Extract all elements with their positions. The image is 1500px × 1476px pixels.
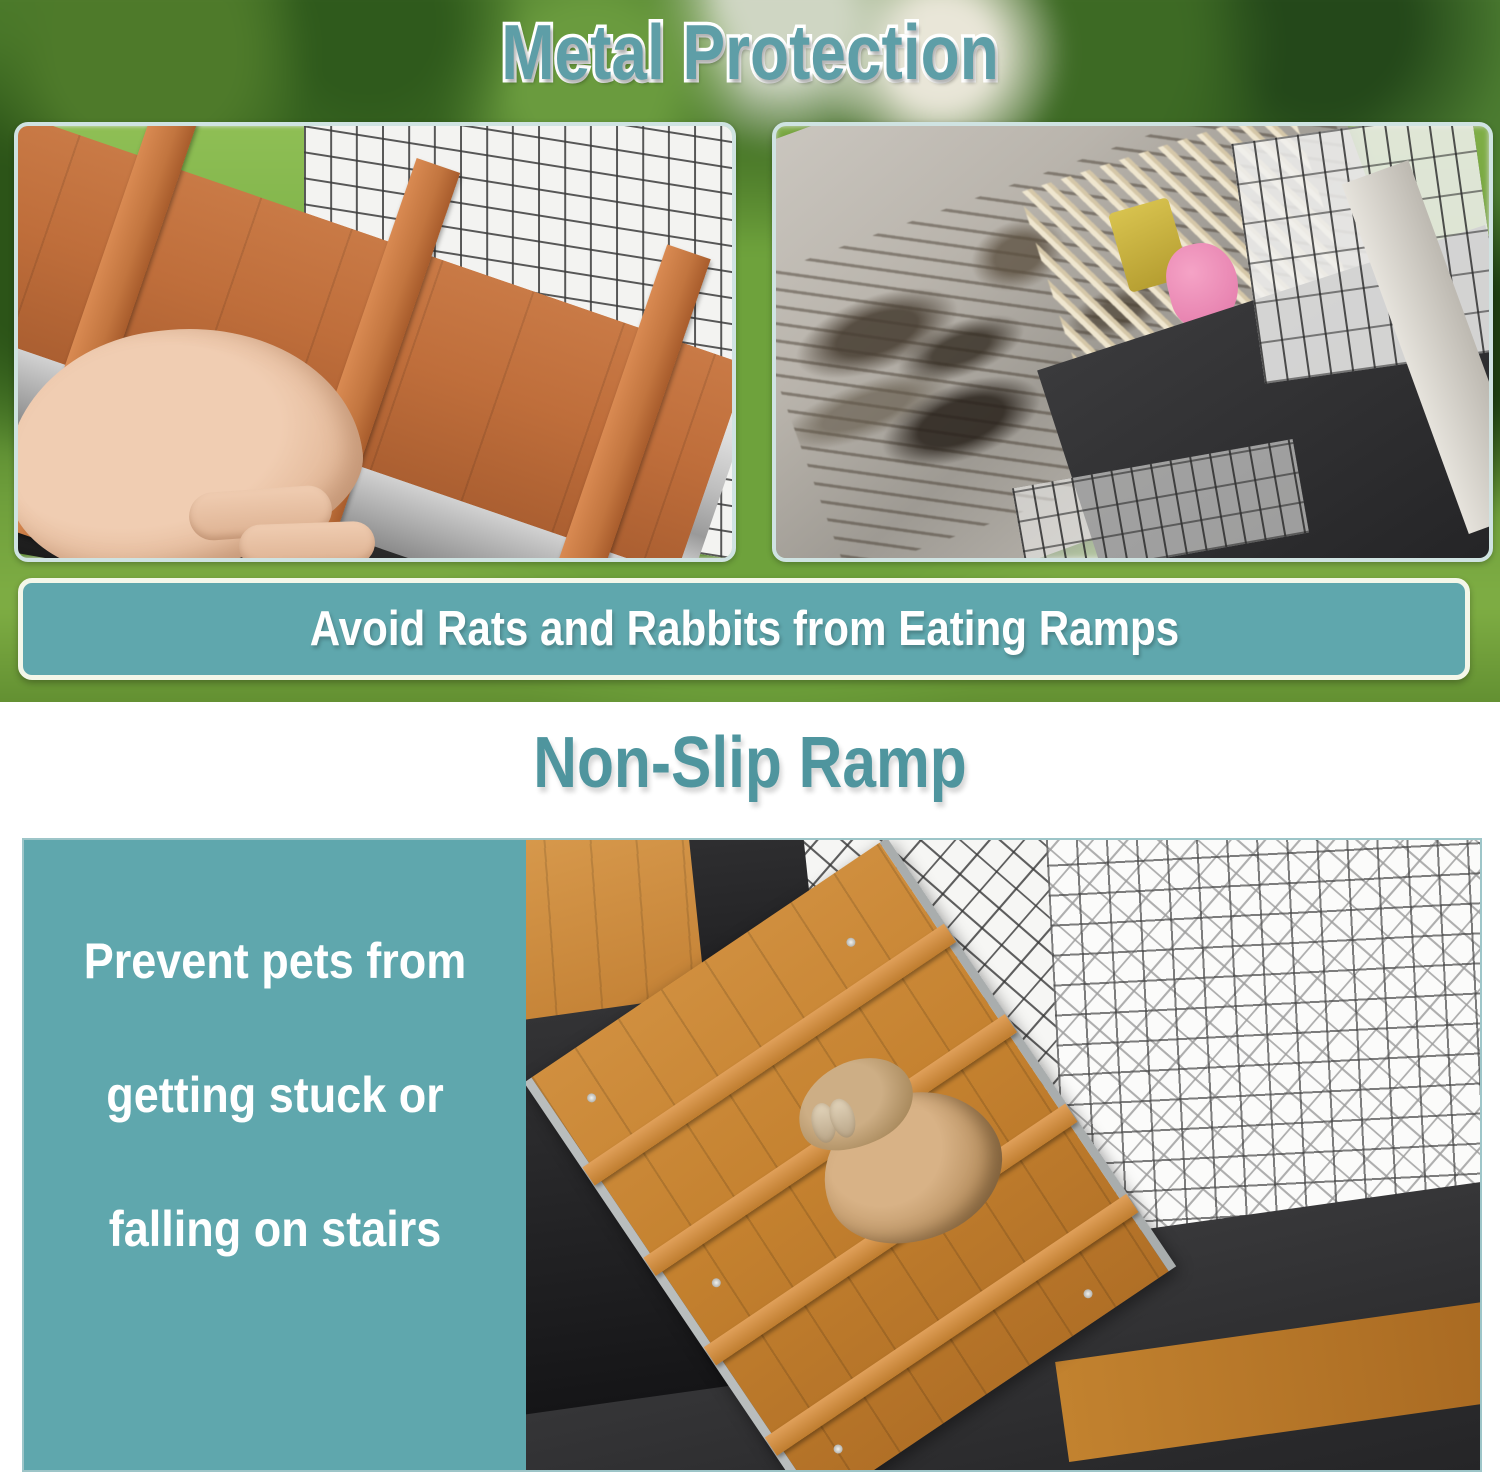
ramp-screw <box>585 1092 597 1104</box>
caption-banner-text: Avoid Rats and Rabbits from Eating Ramps <box>309 601 1178 657</box>
benefit-text-panel: Prevent pets from getting stuck or falli… <box>24 840 526 1470</box>
photo-rabbit-on-non-slip-ramp <box>526 840 1480 1470</box>
benefit-text-line-2: getting stuck or <box>49 1028 501 1162</box>
metal-protection-section: Metal Protection Avoid Rats and Rabbits <box>0 0 1500 702</box>
benefit-text-line-1: Prevent pets from <box>49 894 501 1028</box>
ramp-screw <box>832 1443 844 1455</box>
ramp-screw <box>844 936 856 948</box>
photo-chewed-damaged-ramp <box>772 122 1493 562</box>
non-slip-ramp-section: Non-Slip Ramp Prevent pets from getting … <box>0 702 1500 1476</box>
page-title-metal-protection: Metal Protection <box>135 6 1365 98</box>
ramp-screw <box>1081 1287 1093 1299</box>
photo-hand-holding-metal-edged-ramp <box>14 122 736 562</box>
ramp-screw <box>709 1276 721 1288</box>
non-slip-ramp-card: Prevent pets from getting stuck or falli… <box>22 838 1482 1472</box>
caption-banner-avoid-eating-ramps: Avoid Rats and Rabbits from Eating Ramps <box>18 578 1470 680</box>
hand-finger <box>239 521 376 562</box>
page-title-non-slip-ramp: Non-Slip Ramp <box>120 720 1380 806</box>
benefit-text-line-3: falling on stairs <box>49 1162 501 1296</box>
